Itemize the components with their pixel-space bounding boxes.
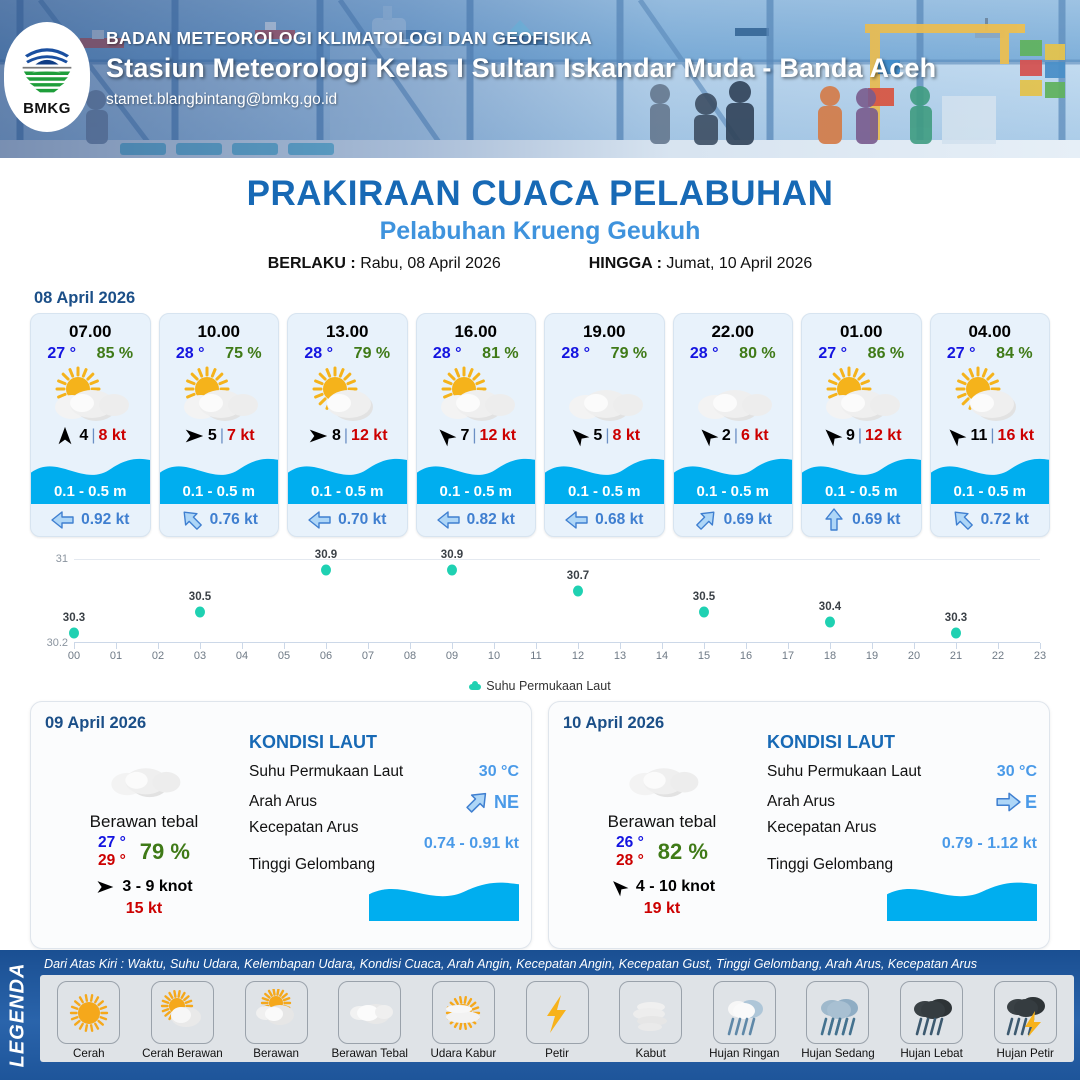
chart-x-tick-label: 00 (68, 650, 80, 662)
panel-wave-box: 0.1 - 0.5 m (369, 875, 519, 921)
card-temperature: 27 ° (947, 345, 976, 363)
chart-x-tick (578, 643, 579, 649)
chart-x-tick (788, 643, 789, 649)
card-humidity: 81 % (482, 345, 518, 363)
panel-weather-icon (567, 742, 757, 800)
forecast-card[interactable]: 07.00 27 ° 85 % 4 | 8 kt 0.1 - 0.5 m 0.9… (30, 313, 151, 537)
card-time: 10.00 (160, 314, 279, 342)
card-humidity: 86 % (868, 345, 904, 363)
card-weather-icon (31, 365, 150, 421)
forecast-card[interactable]: 13.00 28 ° 79 % 8 | 12 kt 0.1 - 0.5 m 0.… (287, 313, 408, 537)
chart-x-tick (326, 643, 327, 649)
chart-x-tick-label: 23 (1034, 650, 1046, 662)
card-wave-height: 0.1 - 0.5 m (545, 483, 664, 500)
card-current-speed: 0.68 kt (595, 511, 643, 529)
wind-direction-icon (431, 420, 462, 451)
legend-item: Hujan Sedang (792, 981, 884, 1060)
legend-icon-sun-clouds-icon (245, 981, 308, 1044)
card-wind-separator: | (605, 427, 609, 445)
legend-item: Kabut (605, 981, 697, 1060)
agency-name: BADAN METEOROLOGI KLIMATOLOGI DAN GEOFIS… (106, 28, 936, 49)
current-direction-icon (308, 508, 332, 532)
legend-icon-clouds-icon (338, 981, 401, 1044)
card-temperature: 28 ° (690, 345, 719, 363)
chart-x-tick (620, 643, 621, 649)
forecast-card[interactable]: 22.00 28 ° 80 % 2 | 6 kt 0.1 - 0.5 m 0.6… (673, 313, 794, 537)
card-gust: 16 kt (998, 427, 1034, 445)
chart-axis-line (74, 642, 1040, 643)
card-current-speed: 0.70 kt (338, 511, 386, 529)
card-weather-icon (545, 365, 664, 421)
card-wind-separator: | (734, 427, 738, 445)
chart-legend-marker-icon (469, 684, 481, 690)
chart-x-tick (200, 643, 201, 649)
chart-x-tick-label: 07 (362, 650, 374, 662)
card-current-speed: 0.72 kt (981, 511, 1029, 529)
panel-temp-min: 27 ° (98, 834, 126, 852)
wave-graphic (369, 875, 519, 921)
panel-wave-height: 0.1 - 0.5 m (1037, 899, 1080, 916)
panel-temps: 27 ° 29 ° (98, 834, 126, 870)
current-speed-value: 0.79 - 1.12 kt (767, 835, 1037, 853)
chart-x-tick (998, 643, 999, 649)
card-wind-separator: | (858, 427, 862, 445)
current-direction-icon (565, 508, 589, 532)
station-email: stamet.blangbintang@bmkg.go.id (106, 91, 936, 109)
chart-x-tick-label: 19 (866, 650, 878, 662)
forecast-card[interactable]: 19.00 28 ° 79 % 5 | 8 kt 0.1 - 0.5 m 0.6… (544, 313, 665, 537)
legend-item: Udara Kabur (418, 981, 510, 1060)
berlaku-value: Rabu, 08 April 2026 (360, 255, 501, 272)
card-current-row: 0.92 kt (31, 504, 150, 536)
chart-x-tick-label: 09 (446, 650, 458, 662)
forecast-card[interactable]: 10.00 28 ° 75 % 5 | 7 kt 0.1 - 0.5 m 0.7… (159, 313, 280, 537)
chart-point-label: 30.4 (819, 601, 841, 613)
hingga-block: HINGGA : Jumat, 10 April 2026 (589, 255, 813, 273)
current-direction-icon (437, 508, 461, 532)
card-wave: 0.1 - 0.5 m (417, 450, 536, 504)
panel-sea-conditions: KONDISI LAUT Suhu Permukaan Laut 30 °C A… (767, 732, 1037, 921)
card-current-speed: 0.82 kt (467, 511, 515, 529)
panel-humidity: 82 % (658, 839, 708, 865)
card-wave: 0.1 - 0.5 m (545, 450, 664, 504)
card-temperature: 27 ° (47, 345, 76, 363)
chart-point-label: 30.3 (63, 612, 85, 624)
chart-data-point (825, 617, 835, 628)
chart-point-label: 30.9 (315, 549, 337, 561)
bmkg-logo: BMKG (4, 22, 90, 132)
card-wave-height: 0.1 - 0.5 m (674, 483, 793, 500)
chart-data-point (195, 606, 205, 617)
legend-icon-heavy-rain-icon (900, 981, 963, 1044)
berlaku-label: BERLAKU : (268, 255, 356, 272)
panel-date: 09 April 2026 (45, 714, 517, 733)
legend-items-row: Cerah Cerah Berawan Berawan Berawan Teba… (40, 975, 1074, 1062)
legend-item-label: Hujan Ringan (698, 1047, 790, 1060)
card-wave: 0.1 - 0.5 m (802, 450, 921, 504)
sst-value: 30 °C (997, 763, 1037, 781)
chart-x-tick (74, 643, 75, 649)
chart-legend: Suhu Permukaan Laut (0, 679, 1080, 693)
sst-label: Suhu Permukaan Laut (767, 763, 921, 781)
chart-x-tick (662, 643, 663, 649)
card-time: 22.00 (674, 314, 793, 342)
station-name: Stasiun Meteorologi Kelas I Sultan Iskan… (106, 53, 936, 84)
wind-direction-icon (605, 873, 633, 901)
panel-temp-humidity: 26 ° 28 ° 82 % (567, 834, 757, 870)
current-speed-value: 0.74 - 0.91 kt (249, 835, 519, 853)
card-wave: 0.1 - 0.5 m (31, 450, 150, 504)
page-subtitle: Pelabuhan Krueng Geukuh (0, 217, 1080, 246)
card-weather-icon (417, 365, 536, 421)
wave-height-label: Tinggi Gelombang (767, 856, 893, 874)
card-humidity: 79 % (354, 345, 390, 363)
legend-icon-sun-cloud-icon (151, 981, 214, 1044)
card-current-row: 0.76 kt (160, 504, 279, 536)
card-gust: 6 kt (741, 427, 769, 445)
chart-point-label: 30.9 (441, 549, 463, 561)
chart-x-tick-label: 12 (572, 650, 584, 662)
legend-icon-light-rain-icon (713, 981, 776, 1044)
panel-temp-max: 29 ° (98, 852, 126, 870)
current-direction-icon (995, 789, 1021, 815)
card-wave: 0.1 - 0.5 m (931, 450, 1050, 504)
chart-x-tick (116, 643, 117, 649)
header-text-block: BADAN METEOROLOGI KLIMATOLOGI DAN GEOFIS… (106, 28, 936, 109)
current-direction-icon (175, 503, 209, 537)
legend-item: Petir (511, 981, 603, 1060)
legend-item: Hujan Ringan (698, 981, 790, 1060)
card-wave-height: 0.1 - 0.5 m (802, 483, 921, 500)
card-wind-separator: | (344, 427, 348, 445)
card-wave: 0.1 - 0.5 m (674, 450, 793, 504)
card-gust: 12 kt (865, 427, 901, 445)
legend-body: Dari Atas Kiri : Waktu, Suhu Udara, Kele… (36, 950, 1080, 1080)
wave-height-label: Tinggi Gelombang (249, 856, 375, 874)
legend-item: Cerah (43, 981, 135, 1060)
panel-temp-min: 26 ° (616, 834, 644, 852)
card-wind-row: 5 | 7 kt (160, 422, 279, 450)
card-current-row: 0.72 kt (931, 504, 1050, 536)
legend-item: Berawan Tebal (324, 981, 416, 1060)
card-wind-separator: | (91, 427, 95, 445)
current-speed-label: Kecepatan Arus (767, 819, 876, 837)
chart-x-tick-label: 20 (908, 650, 920, 662)
card-current-speed: 0.76 kt (210, 511, 258, 529)
panel-left: Berawan tebal 26 ° 28 ° 82 % 4 - 10 knot… (567, 742, 757, 918)
current-direction-icon (689, 503, 723, 537)
daily-forecast-panel[interactable]: 10 April 2026 Berawan tebal 26 ° 28 ° 82… (548, 701, 1050, 949)
chart-x-tick (830, 643, 831, 649)
legend-item-label: Cerah (43, 1047, 135, 1060)
chart-x-tick-label: 01 (110, 650, 122, 662)
chart-point-label: 30.5 (189, 591, 211, 603)
daily-panels-row: 09 April 2026 Berawan tebal 27 ° 29 ° 79… (0, 701, 1080, 949)
chart-x-tick-label: 15 (698, 650, 710, 662)
chart-y-tick-label: 30.2 (47, 637, 68, 649)
card-current-speed: 0.69 kt (724, 511, 772, 529)
panel-wind-row: 4 - 10 knot (567, 877, 757, 897)
legend-icon-haze-icon (432, 981, 495, 1044)
card-temperature: 28 ° (304, 345, 333, 363)
current-direction-icon (51, 508, 75, 532)
card-wave: 0.1 - 0.5 m (160, 450, 279, 504)
card-wind-row: 9 | 12 kt (802, 422, 921, 450)
card-current-row: 0.82 kt (417, 504, 536, 536)
card-wave-height: 0.1 - 0.5 m (931, 483, 1050, 500)
panel-wave-box: 0.1 - 0.5 m (887, 875, 1037, 921)
card-wind-speed: 11 (970, 427, 987, 445)
chart-x-tick (536, 643, 537, 649)
chart-x-tick-label: 10 (488, 650, 500, 662)
card-time: 04.00 (931, 314, 1050, 342)
panel-temp-humidity: 27 ° 29 ° 79 % (49, 834, 239, 870)
chart-data-point (573, 585, 583, 596)
wind-direction-icon (307, 425, 329, 447)
chart-x-tick-label: 03 (194, 650, 206, 662)
current-direction-value-group: NE (464, 789, 519, 815)
bmkg-emblem-icon (18, 37, 76, 99)
chart-x-tick-label: 11 (530, 650, 541, 662)
chart-x-tick (956, 643, 957, 649)
chart-data-point (447, 564, 457, 575)
legend-item: Berawan (230, 981, 322, 1060)
card-wind-row: 8 | 12 kt (288, 422, 407, 450)
card-wave: 0.1 - 0.5 m (288, 450, 407, 504)
chart-x-tick (872, 643, 873, 649)
panel-wind-row: 3 - 9 knot (49, 877, 239, 897)
legend-item-label: Cerah Berawan (137, 1047, 229, 1060)
panel-wind-range: 4 - 10 knot (636, 878, 715, 896)
chart-x-tick-label: 22 (992, 650, 1004, 662)
card-wave-height: 0.1 - 0.5 m (288, 483, 407, 500)
panel-date: 10 April 2026 (563, 714, 1035, 733)
legend-item-label: Hujan Lebat (886, 1047, 978, 1060)
card-humidity: 75 % (225, 345, 261, 363)
card-time: 13.00 (288, 314, 407, 342)
legend-bar: LEGENDA Dari Atas Kiri : Waktu, Suhu Uda… (0, 950, 1080, 1080)
card-current-row: 0.69 kt (802, 504, 921, 536)
chart-x-tick (284, 643, 285, 649)
legend-icon-moderate-rain-icon (806, 981, 869, 1044)
card-weather-icon (802, 365, 921, 421)
chart-x-tick-label: 06 (320, 650, 332, 662)
legend-item-label: Berawan Tebal (324, 1047, 416, 1060)
chart-x-tick (452, 643, 453, 649)
card-weather-icon (160, 365, 279, 421)
legend-side-label: LEGENDA (7, 963, 30, 1068)
card-wind-row: 2 | 6 kt (674, 422, 793, 450)
card-weather-icon (931, 365, 1050, 421)
current-direction-label: Arah Arus (767, 793, 835, 811)
berlaku-block: BERLAKU : Rabu, 08 April 2026 (268, 255, 501, 273)
sea-conditions-title: KONDISI LAUT (767, 732, 1037, 753)
card-current-row: 0.69 kt (674, 504, 793, 536)
card-time: 16.00 (417, 314, 536, 342)
forecast-card[interactable]: 04.00 27 ° 84 % 11 | 16 kt 0.1 - 0.5 m 0… (930, 313, 1051, 537)
card-wind-row: 11 | 16 kt (931, 422, 1050, 450)
legend-item-label: Hujan Petir (979, 1047, 1071, 1060)
sst-label: Suhu Permukaan Laut (249, 763, 403, 781)
panel-sea-conditions: KONDISI LAUT Suhu Permukaan Laut 30 °C A… (249, 732, 519, 921)
card-wind-separator: | (220, 427, 224, 445)
panel-gust: 15 kt (49, 900, 239, 918)
card-wind-separator: | (472, 427, 476, 445)
chart-y-tick-label: 31 (56, 553, 68, 565)
hingga-value: Jumat, 10 April 2026 (666, 255, 812, 272)
legend-item: Hujan Petir (979, 981, 1071, 1060)
card-gust: 12 kt (480, 427, 516, 445)
legend-side-tab: LEGENDA (0, 950, 36, 1080)
legend-item-label: Hujan Sedang (792, 1047, 884, 1060)
chart-x-tick-label: 04 (236, 650, 248, 662)
forecast-card[interactable]: 01.00 27 ° 86 % 9 | 12 kt 0.1 - 0.5 m 0.… (801, 313, 922, 537)
chart-point-label: 30.3 (945, 612, 967, 624)
card-wind-speed: 4 (79, 427, 88, 445)
bmkg-logo-text: BMKG (23, 100, 71, 117)
chart-gridline (74, 559, 1040, 560)
chart-x-tick (1040, 643, 1041, 649)
wind-direction-icon (95, 877, 115, 897)
current-direction-value-group: E (995, 789, 1037, 815)
legend-icon-lightning-icon (526, 981, 589, 1044)
panel-condition: Berawan tebal (567, 812, 757, 832)
page-header: BMKG BADAN METEOROLOGI KLIMATOLOGI DAN G… (0, 0, 1080, 158)
card-wind-speed: 5 (208, 427, 217, 445)
chart-x-tick (746, 643, 747, 649)
card-temperature: 28 ° (176, 345, 205, 363)
current-direction-value: NE (494, 792, 519, 813)
panel-wind-range: 3 - 9 knot (122, 878, 192, 896)
legend-item-label: Udara Kabur (418, 1047, 510, 1060)
card-wind-row: 4 | 8 kt (31, 422, 150, 450)
legend-item: Hujan Lebat (886, 981, 978, 1060)
card-wind-speed: 8 (332, 427, 341, 445)
chart-point-label: 30.5 (693, 591, 715, 603)
legend-item: Cerah Berawan (137, 981, 229, 1060)
card-gust: 8 kt (612, 427, 640, 445)
current-direction-icon (822, 508, 846, 532)
card-gust: 8 kt (98, 427, 126, 445)
hingga-label: HINGGA : (589, 255, 662, 272)
forecast-date-label: 08 April 2026 (34, 289, 1080, 308)
current-direction-value: E (1025, 792, 1037, 813)
chart-data-point (69, 627, 79, 638)
current-direction-icon (946, 503, 980, 537)
panel-humidity: 79 % (140, 839, 190, 865)
card-temperature: 27 ° (818, 345, 847, 363)
chart-x-tick (410, 643, 411, 649)
chart-x-tick-label: 14 (656, 650, 668, 662)
legend-item-label: Kabut (605, 1047, 697, 1060)
wind-direction-icon (54, 425, 76, 447)
legend-item-label: Berawan (230, 1047, 322, 1060)
wave-graphic (887, 875, 1037, 921)
sst-chart: 3130.20001020304050607080910111213141516… (30, 553, 1050, 673)
chart-x-tick (368, 643, 369, 649)
forecast-card[interactable]: 16.00 28 ° 81 % 7 | 12 kt 0.1 - 0.5 m 0.… (416, 313, 537, 537)
legend-item-label: Petir (511, 1047, 603, 1060)
panel-gust: 19 kt (567, 900, 757, 918)
page-title: PRAKIRAAN CUACA PELABUHAN (0, 174, 1080, 214)
card-wave-height: 0.1 - 0.5 m (417, 483, 536, 500)
chart-data-point (321, 564, 331, 575)
card-current-row: 0.68 kt (545, 504, 664, 536)
legend-icon-sun-icon (57, 981, 120, 1044)
card-time: 07.00 (31, 314, 150, 342)
chart-x-tick (494, 643, 495, 649)
card-wind-row: 5 | 8 kt (545, 422, 664, 450)
card-humidity: 79 % (611, 345, 647, 363)
card-temperature: 28 ° (561, 345, 590, 363)
chart-plot-area: 3130.20001020304050607080910111213141516… (74, 559, 1040, 643)
panel-condition: Berawan tebal (49, 812, 239, 832)
hourly-forecast-row: 07.00 27 ° 85 % 4 | 8 kt 0.1 - 0.5 m 0.9… (0, 313, 1080, 537)
current-direction-icon (459, 784, 496, 821)
card-gust: 7 kt (227, 427, 255, 445)
card-humidity: 84 % (996, 345, 1032, 363)
card-gust: 12 kt (351, 427, 387, 445)
chart-x-tick-label: 02 (152, 650, 164, 662)
card-wind-speed: 5 (593, 427, 602, 445)
chart-x-tick (704, 643, 705, 649)
wind-direction-icon (564, 420, 595, 451)
card-wind-separator: | (990, 427, 994, 445)
card-time: 19.00 (545, 314, 664, 342)
panel-weather-icon (49, 742, 239, 800)
wind-direction-icon (941, 420, 972, 451)
sea-conditions-title: KONDISI LAUT (249, 732, 519, 753)
chart-point-label: 30.7 (567, 570, 589, 582)
card-wave-height: 0.1 - 0.5 m (31, 483, 150, 500)
card-current-speed: 0.69 kt (852, 511, 900, 529)
current-speed-label: Kecepatan Arus (249, 819, 358, 837)
card-humidity: 85 % (97, 345, 133, 363)
sst-value: 30 °C (479, 763, 519, 781)
chart-data-point (951, 627, 961, 638)
legend-note: Dari Atas Kiri : Waktu, Suhu Udara, Kele… (40, 955, 1074, 975)
card-current-speed: 0.92 kt (81, 511, 129, 529)
infographic-page: BMKG BADAN METEOROLOGI KLIMATOLOGI DAN G… (0, 0, 1080, 1080)
chart-x-tick-label: 21 (950, 650, 962, 662)
daily-forecast-panel[interactable]: 09 April 2026 Berawan tebal 27 ° 29 ° 79… (30, 701, 532, 949)
current-direction-label: Arah Arus (249, 793, 317, 811)
chart-x-tick-label: 18 (824, 650, 836, 662)
wind-direction-icon (692, 420, 723, 451)
chart-x-tick-label: 13 (614, 650, 626, 662)
chart-x-tick-label: 16 (740, 650, 752, 662)
chart-x-tick-label: 05 (278, 650, 290, 662)
card-wind-row: 7 | 12 kt (417, 422, 536, 450)
legend-icon-fog-icon (619, 981, 682, 1044)
chart-data-point (699, 606, 709, 617)
validity-row: BERLAKU : Rabu, 08 April 2026 HINGGA : J… (0, 255, 1080, 273)
chart-x-tick-label: 17 (782, 650, 794, 662)
card-weather-icon (288, 365, 407, 421)
card-wave-height: 0.1 - 0.5 m (160, 483, 279, 500)
chart-legend-label: Suhu Permukaan Laut (486, 679, 610, 693)
chart-x-tick (242, 643, 243, 649)
panel-left: Berawan tebal 27 ° 29 ° 79 % 3 - 9 knot … (49, 742, 239, 918)
chart-x-tick (914, 643, 915, 649)
card-temperature: 28 ° (433, 345, 462, 363)
card-humidity: 80 % (739, 345, 775, 363)
card-wind-speed: 7 (460, 427, 469, 445)
chart-x-tick-label: 08 (404, 650, 416, 662)
wind-direction-icon (816, 420, 847, 451)
wind-direction-icon (183, 425, 205, 447)
panel-temp-max: 28 ° (616, 852, 644, 870)
